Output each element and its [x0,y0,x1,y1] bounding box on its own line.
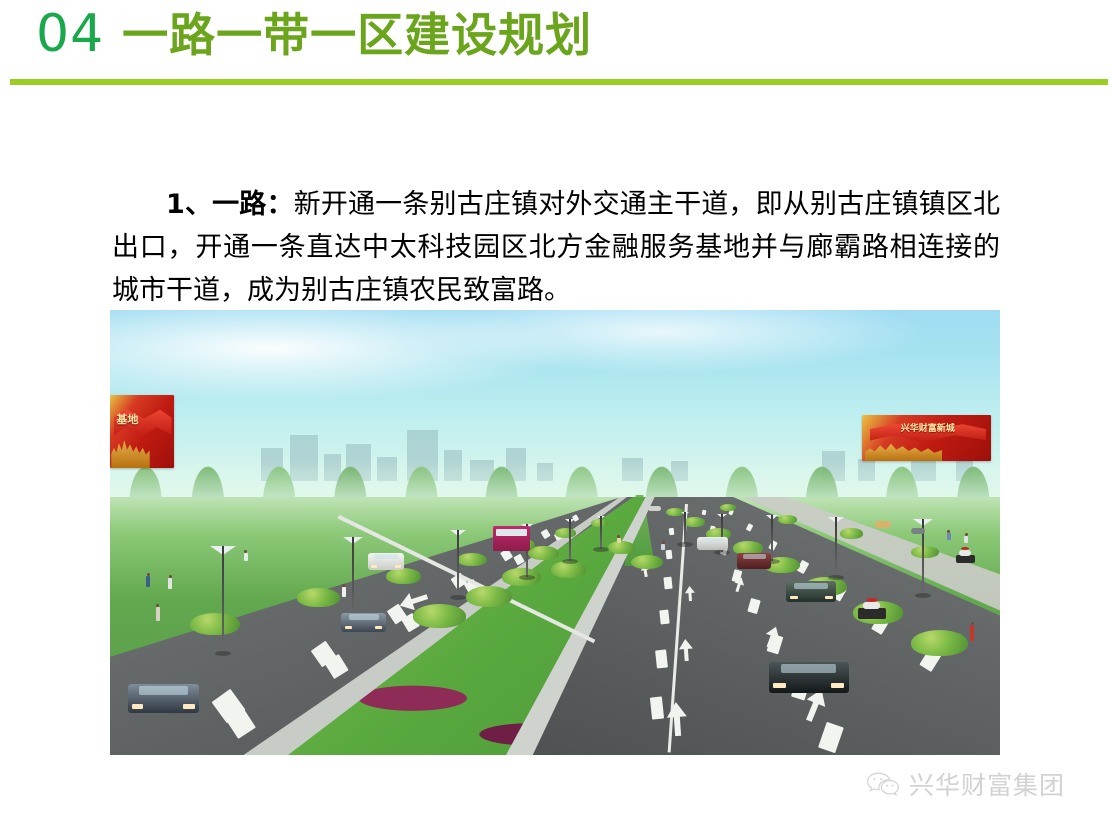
body-paragraph: 1、一路：新开通一条别古庄镇对外交通主干道，即从别古庄镇镇区北出口，开通一条直达… [112,183,1000,312]
wechat-icon [866,771,900,797]
header-divider [10,79,1108,85]
page-title: 一路一带一区建设规划 [122,12,592,58]
right-billboard: 兴华财富新城 [862,415,991,462]
paragraph-lead: 1、一路： [166,189,294,220]
header-title-row: 04 一路一带一区建设规划 [36,8,592,60]
motorcycle-rider-b [956,555,976,563]
brand-name: 兴华财富集团 [909,766,1065,802]
silver-car-right [697,537,727,550]
maroon-suv [737,553,771,569]
section-number: 04 [36,8,104,60]
footer-brand: 兴华财富集团 [866,766,1065,802]
far-car-a [875,521,891,528]
sedan-left-front [128,684,199,713]
slide: 04 一路一带一区建设规划 1、一路：新开通一条别古庄镇对外交通主干道，即从别古… [0,0,1112,834]
far-car-b [911,528,925,534]
white-van [368,553,404,571]
left-billboard: 基地 [110,395,174,468]
bus [493,526,530,551]
black-sedan-front [769,662,849,693]
sedan-left-mid [341,613,386,633]
far-car-c [648,506,660,511]
road-rendering-image: 基地 兴华财富新城 [110,310,1000,755]
slide-header: 04 一路一带一区建设规划 [0,0,1112,92]
motorcycle-rider-a [858,608,886,619]
green-sedan-right [786,581,836,601]
left-billboard-text: 基地 [116,414,170,427]
scene: 基地 兴华财富新城 [110,310,1000,755]
right-billboard-text: 兴华财富新城 [901,424,984,434]
